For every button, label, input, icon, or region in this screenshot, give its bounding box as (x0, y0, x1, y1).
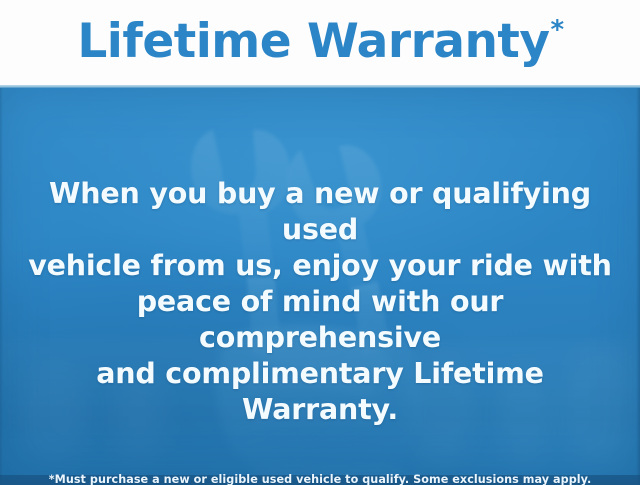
page-title-text: Lifetime Warranty (77, 14, 549, 69)
panel-content: When you buy a new or qualifying used ve… (0, 88, 640, 485)
headline-line: peace of mind with our comprehensive (22, 284, 618, 356)
headline-line: When you buy a new or qualifying used (22, 176, 618, 248)
lifetime-warranty-banner: Lifetime Warranty* (0, 0, 640, 485)
banner-header: Lifetime Warranty* (0, 0, 640, 85)
header-divider (0, 85, 640, 88)
headline-line: vehicle from us, enjoy your ride with (22, 248, 618, 284)
headline-line: and complimentary Lifetime Warranty. (22, 356, 618, 428)
disclaimer-line: *Must purchase a new or eligible used ve… (32, 471, 608, 485)
title-asterisk-marker: * (551, 15, 564, 45)
disclaimer-text: *Must purchase a new or eligible used ve… (32, 471, 608, 485)
page-title: Lifetime Warranty* (77, 18, 562, 65)
headline-text: When you buy a new or qualifying used ve… (22, 176, 618, 428)
promo-panel: When you buy a new or qualifying used ve… (0, 88, 640, 485)
